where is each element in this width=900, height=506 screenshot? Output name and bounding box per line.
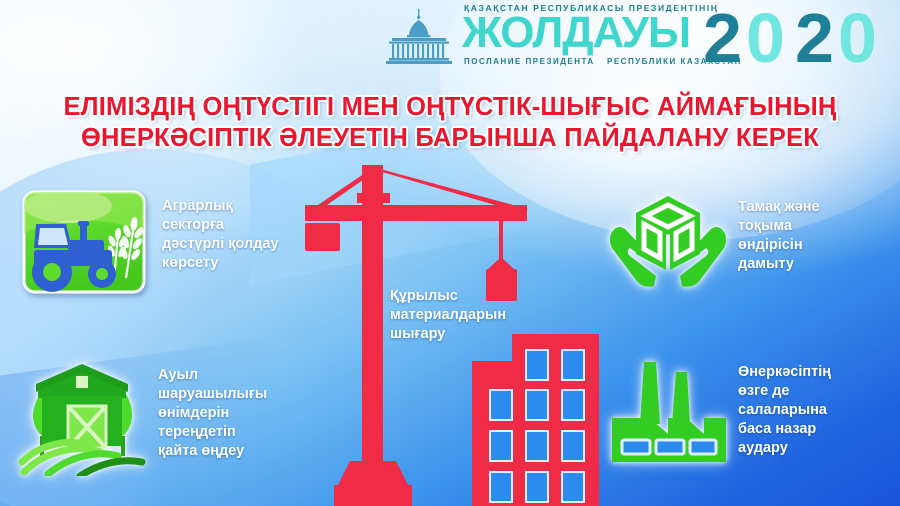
akorda-palace-icon <box>378 8 460 68</box>
logo-year-2020: 2 0 2 0 <box>705 2 895 74</box>
item-other-industry-label: Өнеркәсіптің өзге де салаларына баса наз… <box>738 363 831 458</box>
item-farm-processing: Ауыл шаруашылығы өнімдерін тереңдетіп қа… <box>18 358 348 483</box>
year-digit-1: 2 <box>705 2 742 74</box>
hands-holding-box-icon <box>608 192 728 292</box>
item-agriculture-support-label: Аграрлық секторға дәстүрлі қолдау көрсет… <box>162 197 279 273</box>
hands-shape <box>610 227 726 287</box>
factory-icon <box>608 358 730 470</box>
year-digit-2: 0 <box>746 2 785 74</box>
barn-field-icon <box>18 358 146 476</box>
item-food-textile-label: Тамақ және тоқыма өндірісін дамыту <box>738 198 820 274</box>
item-farm-processing-label: Ауыл шаруашылығы өнімдерін тереңдетіп қа… <box>158 366 267 461</box>
header-band: ҚАЗАҚСТАН РЕСПУБЛИКАСЫ ПРЕЗИДЕНТІНІҢ ЖОЛ… <box>0 0 900 78</box>
page-title: ЕЛІМІЗДІҢ ОҢТҮСТІГІ МЕН ОҢТҮСТІК-ШЫҒЫС А… <box>0 92 900 154</box>
item-other-industry: Өнеркәсіптің өзге де салаларына баса наз… <box>608 358 898 483</box>
item-food-textile: Тамақ және тоқыма өндірісін дамыту <box>608 192 898 302</box>
item-building-materials: Құрылыс материалдарын шығару <box>300 165 600 506</box>
factory-windows <box>622 440 716 454</box>
infographic-poster: ҚАЗАҚСТАН РЕСПУБЛИКАСЫ ПРЕЗИДЕНТІНІҢ ЖОЛ… <box>0 0 900 506</box>
year-digit-3: 2 <box>795 2 834 74</box>
logo-main-word: ЖОЛДАУЫ <box>462 11 690 55</box>
apartment-building-shape <box>472 334 599 506</box>
logo-bottom-left: ПОСЛАНИЕ ПРЕЗИДЕНТА <box>464 57 595 66</box>
item-building-materials-label: Құрылыс материалдарын шығару <box>390 287 506 344</box>
tractor-wheat-icon <box>22 190 146 294</box>
barn-shape <box>36 364 128 448</box>
zholdau-logo: ҚАЗАҚСТАН РЕСПУБЛИКАСЫ ПРЕЗИДЕНТІНІҢ ЖОЛ… <box>462 2 892 74</box>
year-digit-4: 0 <box>838 2 877 74</box>
